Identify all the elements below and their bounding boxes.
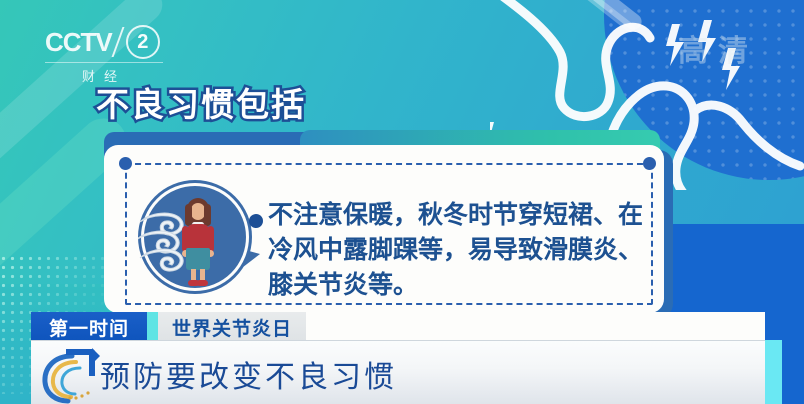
- badge-filler: [306, 312, 765, 340]
- lower-third: 第一时间 世界关节炎日 预防要改变不良习惯: [0, 312, 804, 404]
- page-title: 不良习惯包括: [96, 78, 306, 126]
- lower-third-badges: 第一时间 世界关节炎日: [31, 312, 765, 340]
- speech-bubble-circle: [141, 183, 249, 291]
- corner-dot-icon: [643, 157, 656, 170]
- lower-third-accent: [765, 340, 782, 404]
- badge-separator: [147, 312, 158, 340]
- logo-slash: [111, 27, 124, 57]
- bullet-dot-icon: [249, 214, 263, 228]
- topic-badge: 世界关节炎日: [158, 312, 306, 340]
- program-swoosh-logo-icon: [36, 346, 110, 404]
- program-badge: 第一时间: [31, 312, 147, 340]
- woman-figure-icon: [178, 198, 218, 286]
- corner-dot-icon: [119, 157, 132, 170]
- woman-in-cold-wind-illustration: [141, 183, 249, 291]
- channel-logo: CCTV 2 财经: [45, 25, 163, 85]
- hd-watermark: 高清: [678, 26, 758, 70]
- channel-name: CCTV: [45, 27, 112, 58]
- lower-third-headline: 预防要改变不良习惯: [100, 352, 397, 396]
- card-body-text: 不注意保暖，秋冬时节穿短裙、在冷风中露脚踝等，易导致滑膜炎、膝关节炎等。: [268, 198, 646, 303]
- broadcast-screen: 高清 CCTV 2 财经 不良习惯包括: [0, 0, 804, 404]
- channel-number: 2: [126, 25, 160, 59]
